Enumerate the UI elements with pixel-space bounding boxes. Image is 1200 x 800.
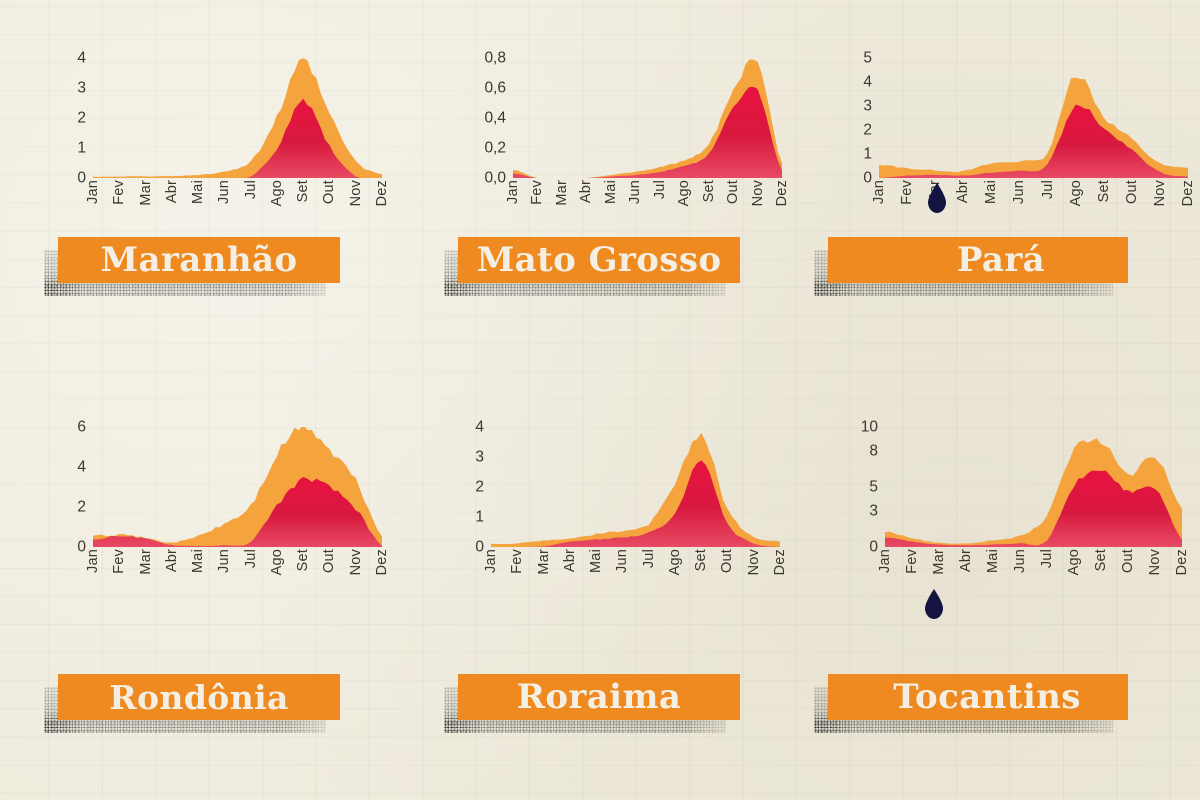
y-tick-label: 4 [77,459,86,475]
y-tick-label: 2 [475,479,484,495]
x-tick-label: Mai [984,180,999,204]
x-tick-label: Fev [905,549,920,574]
x-tick-label: Fev [530,180,545,205]
x-tick-label: Mar [139,180,154,206]
state-name-label: Tocantins [828,680,1128,714]
y-tick-label: 2 [77,110,86,126]
x-tick-label: Dez [775,180,790,206]
y-tick-label: 1 [77,140,86,156]
x-tick-label: Dez [375,180,390,206]
x-tick-label: Jun [1012,180,1027,204]
state-title-banner-maranhao: Maranhão [58,237,340,283]
x-tick-label: Jun [615,549,630,573]
x-tick-label: Set [702,180,717,202]
y-axis-rondonia: 0246 [50,427,93,547]
x-tick-label: Jul [244,180,259,199]
y-tick-label: 3 [77,80,86,96]
x-tick-label: Dez [375,549,390,575]
x-tick-label: Set [1094,549,1109,571]
x-tick-label: Fev [510,549,525,574]
state-name-label: Rondônia [58,681,340,714]
x-tick-label: Jun [217,549,232,573]
x-tick-label: Mai [191,180,206,204]
chart-tocantins: 035810JanFevMarAbrMaiJunJulAgoSetOutNovD… [800,427,1200,603]
banner-body: Mato Grosso [458,237,740,283]
y-tick-label: 4 [475,419,484,435]
banner-body: Rondônia [58,674,340,720]
x-tick-label: Set [296,180,311,202]
state-title-banner-roraima: Roraima [458,674,740,720]
x-tick-label: Jun [217,180,232,204]
x-tick-label: Fev [112,180,127,205]
state-name-label: Maranhão [58,243,340,277]
y-tick-label: 2 [863,122,872,138]
series-inner-flame [513,87,782,178]
x-axis-mato-grosso: JanFevMarAbrMaiJunJulAgoSetOutNovDez [513,178,782,234]
y-tick-label: 5 [869,479,878,495]
state-panel-maranhao: 01234JanFevMarAbrMaiJunJulAgoSetOutNovDe… [0,0,400,400]
x-tick-label: Nov [349,549,364,575]
x-tick-label: Jan [484,549,499,573]
y-tick-label: 2 [77,499,86,515]
y-axis-roraima: 01234 [448,427,491,547]
x-tick-label: Dez [1181,180,1196,206]
x-tick-label: Mar [139,549,154,575]
banner-body: Tocantins [828,674,1128,720]
y-tick-label: 3 [475,449,484,465]
x-tick-label: Out [726,180,741,204]
x-tick-label: Jan [506,180,521,204]
y-axis-para: 012345 [842,58,879,178]
x-tick-label: Mar [555,180,570,206]
state-panel-tocantins: 035810JanFevMarAbrMaiJunJulAgoSetOutNovD… [800,400,1200,800]
y-tick-label: 3 [869,503,878,519]
state-panel-mato-grosso: 0,00,20,40,60,8JanFevMarAbrMaiJunJulAgoS… [400,0,800,400]
state-chart-grid: 01234JanFevMarAbrMaiJunJulAgoSetOutNovDe… [0,0,1200,800]
x-tick-label: Nov [747,549,762,575]
x-tick-label: Jul [653,180,668,199]
x-tick-label: Abr [956,180,971,203]
chart-para: 012345JanFevMarAbrMaiJunJulAgoSetOutNovD… [800,58,1200,234]
banner-body: Pará [828,237,1128,283]
y-tick-label: 10 [861,419,878,435]
x-tick-label: Out [322,549,337,573]
x-tick-label: Ago [1069,180,1084,206]
x-tick-label: Ago [270,180,285,206]
series-outer-flame [491,433,780,547]
x-tick-label: Ago [1067,549,1082,575]
flame-area-chart [879,58,1188,178]
x-tick-label: Abr [579,180,594,203]
x-tick-label: Abr [165,180,180,203]
state-title-banner-tocantins: Tocantins [828,674,1128,720]
plot-area-mato-grosso: JanFevMarAbrMaiJunJulAgoSetOutNovDez [513,58,782,234]
chart-roraima: 01234JanFevMarAbrMaiJunJulAgoSetOutNovDe… [400,427,800,603]
x-tick-label: Ago [677,180,692,206]
x-tick-label: Jul [1040,549,1055,568]
x-tick-label: Abr [563,549,578,572]
y-tick-label: 8 [869,443,878,459]
x-axis-roraima: JanFevMarAbrMaiJunJulAgoSetOutNovDez [491,547,780,603]
y-tick-label: 1 [863,146,872,162]
x-axis-maranhao: JanFevMarAbrMaiJunJulAgoSetOutNovDez [93,178,382,234]
state-panel-rondonia: 0246JanFevMarAbrMaiJunJulAgoSetOutNovDez… [0,400,400,800]
x-tick-label: Jul [244,549,259,568]
state-title-banner-rondonia: Rondônia [58,674,340,720]
x-tick-label: Dez [773,549,788,575]
state-name-label: Roraima [458,680,740,714]
water-droplet-icon [922,588,946,620]
plot-area-maranhao: JanFevMarAbrMaiJunJulAgoSetOutNovDez [93,58,382,234]
x-tick-label: Jan [872,180,887,204]
plot-area-rondonia: JanFevMarAbrMaiJunJulAgoSetOutNovDez [93,427,382,603]
chart-maranhao: 01234JanFevMarAbrMaiJunJulAgoSetOutNovDe… [0,58,400,234]
x-tick-label: Dez [1175,549,1190,575]
chart-rondonia: 0246JanFevMarAbrMaiJunJulAgoSetOutNovDez [0,427,400,603]
y-tick-label: 0,4 [484,110,506,126]
x-tick-label: Jul [1041,180,1056,199]
x-tick-label: Out [1121,549,1136,573]
x-tick-label: Mai [604,180,619,204]
chart-mato-grosso: 0,00,20,40,60,8JanFevMarAbrMaiJunJulAgoS… [400,58,800,234]
y-tick-label: 0,6 [484,80,506,96]
x-tick-label: Fev [900,180,915,205]
x-tick-label: Jan [86,180,101,204]
state-panel-para: 012345JanFevMarAbrMaiJunJulAgoSetOutNovD… [800,0,1200,400]
state-name-label: Mato Grosso [458,243,740,277]
series-outer-flame [93,58,382,178]
plot-area-tocantins: JanFevMarAbrMaiJunJulAgoSetOutNovDez [885,427,1182,603]
state-title-banner-para: Pará [828,237,1128,283]
x-tick-label: Nov [349,180,364,206]
x-tick-label: Mar [537,549,552,575]
x-tick-label: Fev [112,549,127,574]
x-tick-label: Nov [751,180,766,206]
x-tick-label: Mai [986,549,1001,573]
x-axis-rondonia: JanFevMarAbrMaiJunJulAgoSetOutNovDez [93,547,382,603]
x-tick-label: Ago [270,549,285,575]
y-tick-label: 1 [475,509,484,525]
x-tick-label: Out [720,549,735,573]
y-tick-label: 4 [863,74,872,90]
flame-area-chart [93,58,382,178]
x-tick-label: Out [322,180,337,204]
y-tick-label: 6 [77,419,86,435]
y-tick-label: 0,2 [484,140,506,156]
y-tick-label: 4 [77,50,86,66]
x-tick-label: Abr [165,549,180,572]
banner-body: Maranhão [58,237,340,283]
flame-area-chart [491,427,780,547]
x-tick-label: Set [694,549,709,571]
y-axis-tocantins: 035810 [842,427,885,547]
x-tick-label: Abr [959,549,974,572]
y-tick-label: 3 [863,98,872,114]
x-tick-label: Nov [1148,549,1163,575]
x-tick-label: Out [1125,180,1140,204]
x-tick-label: Mai [589,549,604,573]
y-tick-label: 0,8 [484,50,506,66]
state-panel-roraima: 01234JanFevMarAbrMaiJunJulAgoSetOutNovDe… [400,400,800,800]
y-axis-maranhao: 01234 [50,58,93,178]
x-tick-label: Mar [932,549,947,575]
state-title-banner-mato-grosso: Mato Grosso [458,237,740,283]
x-tick-label: Jul [642,549,657,568]
flame-area-chart [93,427,382,547]
state-name-label: Pará [828,243,1128,277]
water-droplet-icon [925,182,949,214]
y-tick-label: 5 [863,50,872,66]
x-tick-label: Ago [668,549,683,575]
y-tick-label: 0,0 [484,170,506,186]
plot-area-roraima: JanFevMarAbrMaiJunJulAgoSetOutNovDez [491,427,780,603]
x-tick-label: Jun [628,180,643,204]
x-tick-label: Jan [878,549,893,573]
x-tick-label: Jan [86,549,101,573]
y-axis-mato-grosso: 0,00,20,40,60,8 [452,58,513,178]
x-tick-label: Mai [191,549,206,573]
x-tick-label: Set [1097,180,1112,202]
flame-area-chart [885,427,1182,547]
banner-body: Roraima [458,674,740,720]
x-tick-label: Jun [1013,549,1028,573]
x-tick-label: Nov [1153,180,1168,206]
x-tick-label: Set [296,549,311,571]
flame-area-chart [513,58,782,178]
